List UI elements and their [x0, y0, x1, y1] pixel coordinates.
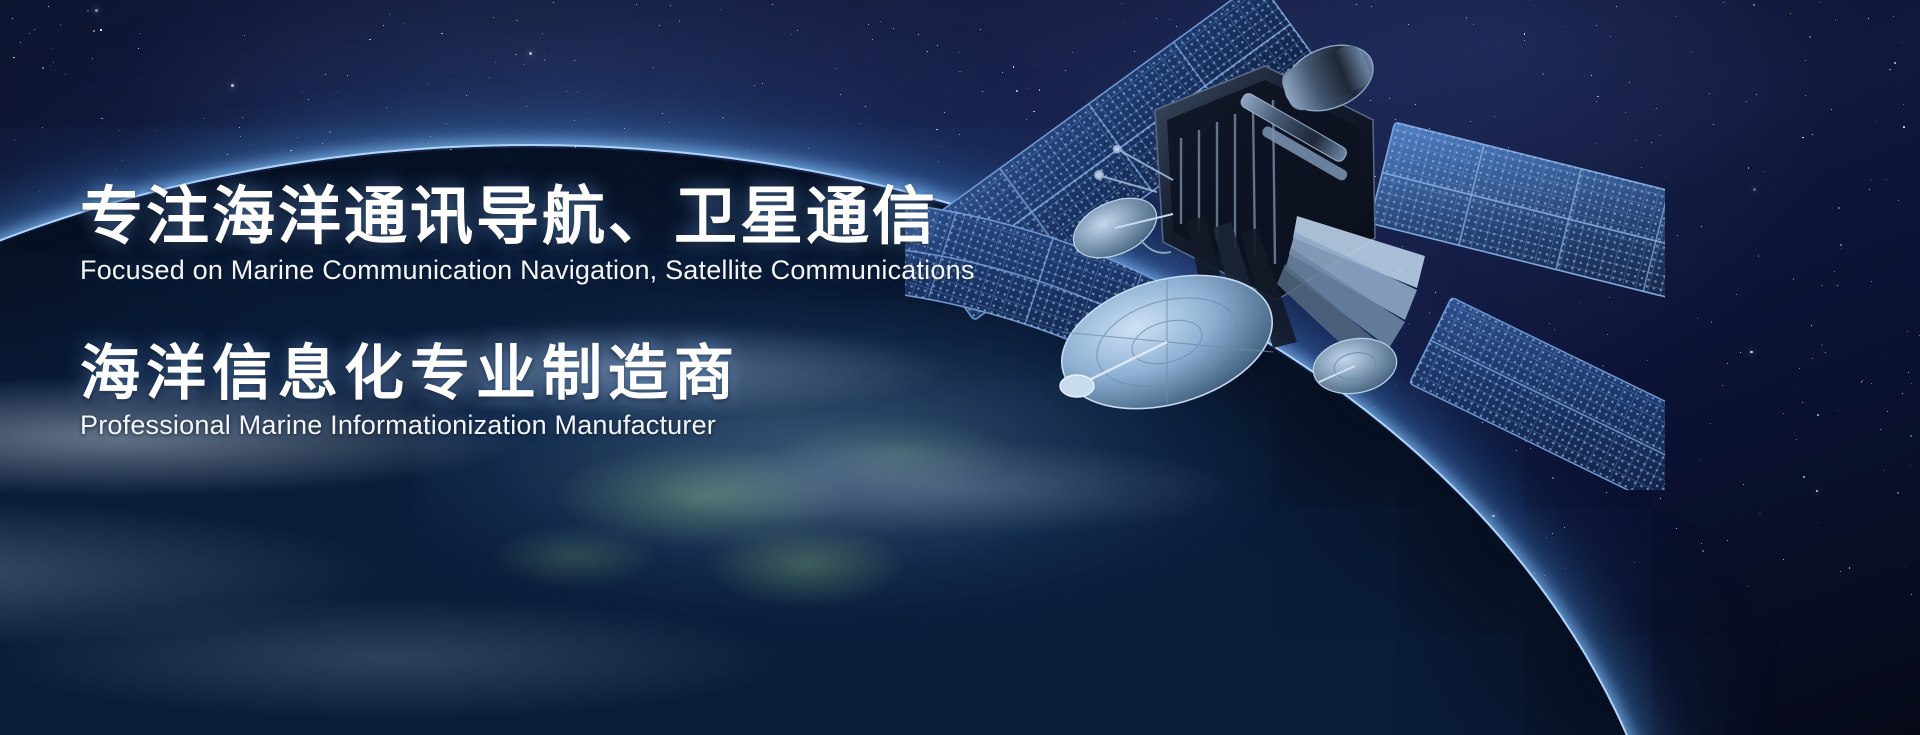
headline-primary-en: Focused on Marine Communication Navigati… — [80, 256, 1080, 286]
headline-block: 专注海洋通讯导航、卫星通信 Focused on Marine Communic… — [80, 186, 1080, 440]
headline-primary-cn: 专注海洋通讯导航、卫星通信 — [80, 186, 1080, 249]
headline-secondary-en: Professional Marine Informationization M… — [80, 411, 1080, 441]
headline-secondary-cn: 海洋信息化专业制造商 — [80, 344, 1080, 404]
solar-panel-lower-right — [1409, 297, 1665, 490]
hero-banner: 专注海洋通讯导航、卫星通信 Focused on Marine Communic… — [0, 0, 1920, 735]
headline-spacer — [80, 286, 1080, 344]
